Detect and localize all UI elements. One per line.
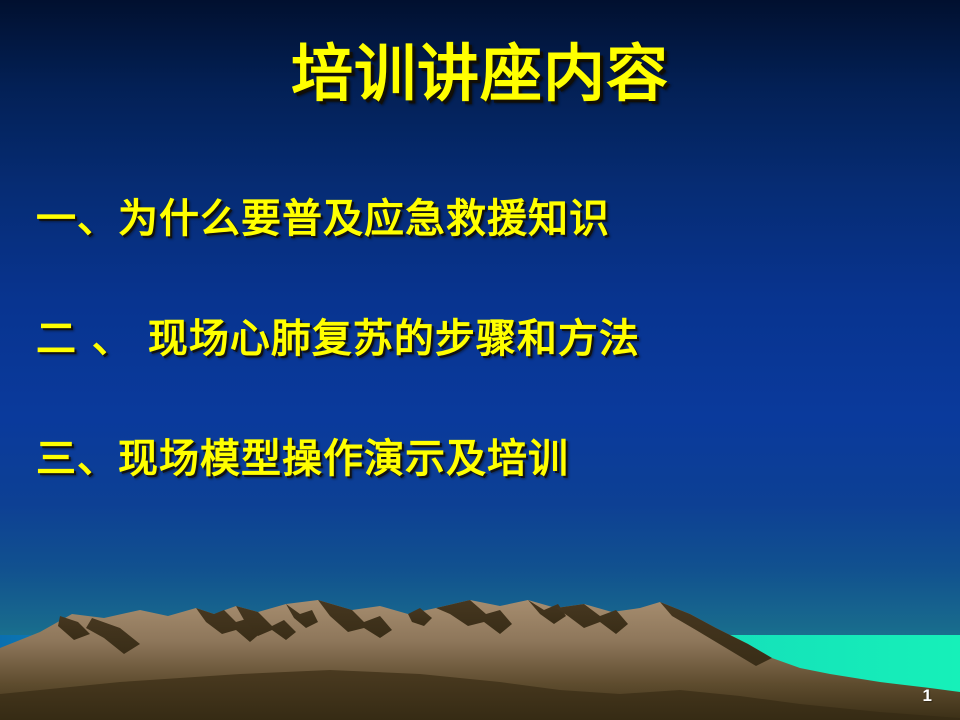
bullet-item-3: 三、现场模型操作演示及培训 xyxy=(36,426,916,492)
bullet-list: 一、为什么要普及应急救援知识 二 、 现场心肺复苏的步骤和方法 三、现场模型操作… xyxy=(36,186,916,492)
mountain-scenery-graphic xyxy=(0,570,960,720)
page-number: 1 xyxy=(923,686,932,706)
bullet-item-2: 二 、 现场心肺复苏的步骤和方法 xyxy=(36,306,916,372)
presentation-slide: 培训讲座内容 一、为什么要普及应急救援知识 二 、 现场心肺复苏的步骤和方法 三… xyxy=(0,0,960,720)
slide-title: 培训讲座内容 xyxy=(0,40,960,108)
bullet-item-1: 一、为什么要普及应急救援知识 xyxy=(36,186,916,252)
